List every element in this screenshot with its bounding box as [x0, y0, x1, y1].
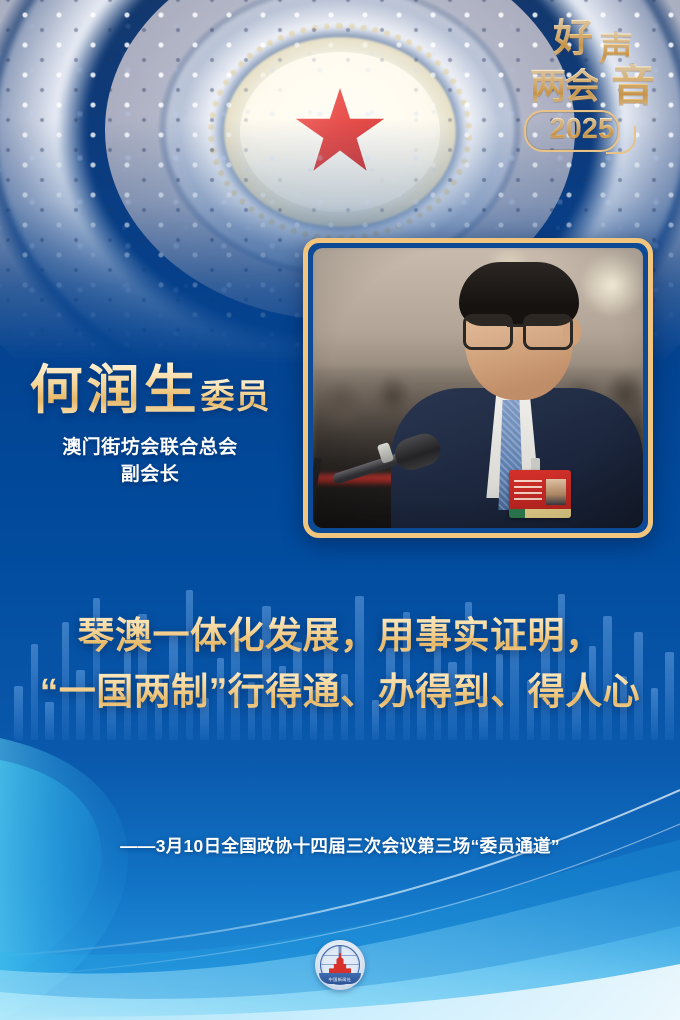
- speaker-name: 何润生: [30, 361, 201, 420]
- speaker-name-row: 何润生委员: [0, 364, 300, 417]
- delegate-portrait-frame: [303, 238, 653, 538]
- speaker-info: 何润生委员 澳门街坊会联合总会 副会长: [0, 364, 300, 489]
- quote-line-1: 琴澳一体化发展，用事实证明，: [0, 608, 680, 664]
- quote-line-2: “一国两制”行得通、办得到、得人心: [0, 664, 680, 720]
- delegate-portrait: [313, 248, 643, 528]
- logo-year: 2025: [549, 115, 614, 143]
- speaker-organization: 澳门街坊会联合总会 副会长: [0, 435, 300, 489]
- program-logo: 好 声 音 两会 2025: [512, 18, 660, 163]
- quote-block: 琴澳一体化发展，用事实证明， “一国两制”行得通、办得到、得人心: [0, 608, 680, 720]
- emblem-ribbon-text: 中国新闻社: [319, 973, 361, 984]
- speaker-title: 委员: [201, 378, 271, 416]
- logo-word-lianghui: 两会: [530, 68, 598, 104]
- source-caption: ——3月10日全国政协十四届三次会议第三场“委员通道”: [0, 833, 680, 858]
- organization-line-1: 澳门街坊会联合总会: [0, 435, 300, 462]
- logo-char-hao: 好: [553, 18, 592, 58]
- organization-line-2: 副会长: [0, 462, 300, 489]
- poster-root: 好 声 音 两会 2025: [0, 0, 680, 1020]
- news-agency-emblem: 中国新闻社: [315, 940, 365, 990]
- logo-char-yin: 音: [611, 64, 654, 108]
